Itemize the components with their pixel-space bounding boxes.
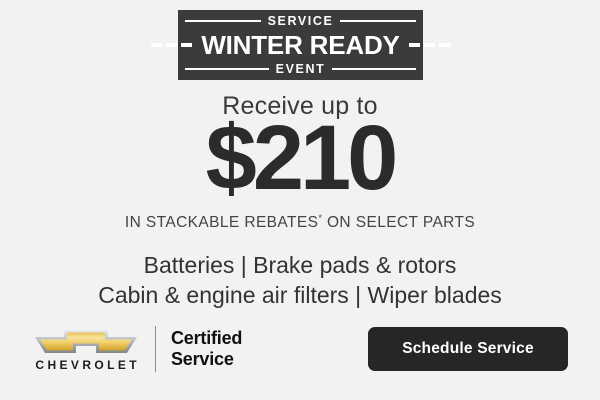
badge-rule-left-bottom [185, 68, 269, 70]
dash-icon [151, 43, 162, 47]
dash-icon [166, 43, 177, 47]
chevrolet-logo: CHEVROLET [32, 328, 140, 371]
badge-bottom-row: EVENT [185, 63, 416, 76]
product-list: Batteries | Brake pads & rotors Cabin & … [0, 250, 600, 311]
ad-footer: CHEVROLET Certified Service Schedule Ser… [32, 318, 568, 380]
badge-title: WINTER READY [201, 32, 399, 58]
badge-rule-right-bottom [332, 68, 416, 70]
certified-service-label: Certified Service [171, 328, 242, 370]
brand-lockup: CHEVROLET Certified Service [32, 326, 242, 372]
badge-kicker-top: SERVICE [268, 15, 334, 28]
offer-terms: IN STACKABLE REBATES* ON SELECT PARTS [0, 213, 600, 232]
dash-group-left-icon [151, 43, 192, 47]
product-line-1: Batteries | Brake pads & rotors [0, 250, 600, 280]
dash-icon [409, 43, 420, 47]
chevrolet-wordmark: CHEVROLET [32, 359, 140, 371]
certified-line-2: Service [171, 349, 242, 370]
lockup-divider [155, 326, 156, 372]
winter-ready-service-ad: SERVICE WINTER READY EVENT Receive up to… [0, 0, 600, 400]
certified-line-1: Certified [171, 328, 242, 349]
event-badge: SERVICE WINTER READY EVENT [178, 10, 423, 80]
badge-kicker-bottom: EVENT [276, 63, 326, 76]
dash-group-right-icon [409, 43, 450, 47]
badge-title-row: WINTER READY [185, 32, 416, 58]
badge-rule-right-top [340, 20, 416, 22]
offer-amount: $210 [0, 112, 600, 204]
product-line-2: Cabin & engine air filters | Wiper blade… [0, 280, 600, 310]
schedule-service-button[interactable]: Schedule Service [368, 327, 568, 371]
chevrolet-bowtie-icon [32, 328, 140, 355]
dash-icon [181, 43, 192, 47]
dash-icon [424, 43, 435, 47]
dash-icon [439, 43, 450, 47]
offer-terms-suffix: ON SELECT PARTS [322, 214, 475, 231]
badge-rule-left-top [185, 20, 261, 22]
badge-top-row: SERVICE [185, 15, 416, 28]
offer-terms-text: IN STACKABLE REBATES [125, 214, 318, 231]
